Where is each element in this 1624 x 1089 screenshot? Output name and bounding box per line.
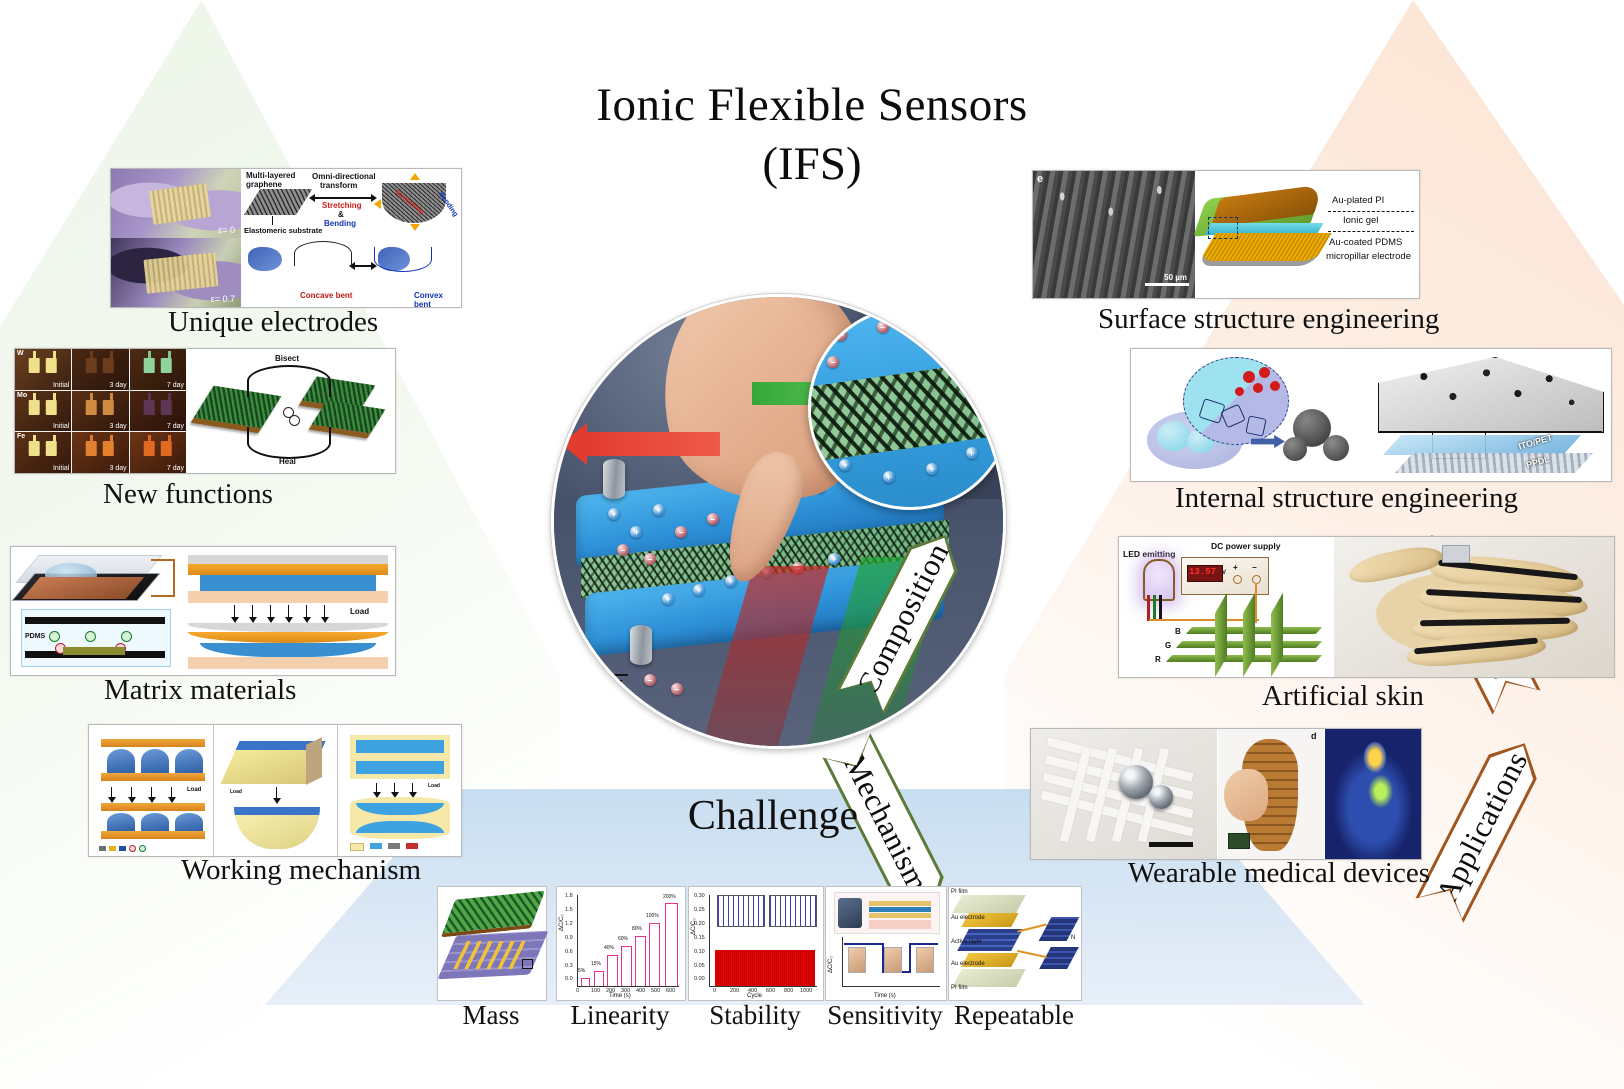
day-label: 3 day <box>110 465 127 472</box>
peak-label: 100% <box>646 913 659 919</box>
peak-bar <box>665 903 678 986</box>
label-pi-film-top: PI film <box>951 889 968 895</box>
heal-arrow-icon <box>247 427 331 459</box>
center-circle-illustration: + + + – – – – – + – + + + + + – + – – <box>551 294 1006 749</box>
callout-line <box>1017 923 1046 932</box>
metal-label-w: W <box>17 350 24 357</box>
dark-particle-icon <box>1283 437 1307 461</box>
graphene-sheet-flat <box>244 189 312 215</box>
sensor-strip-vertical <box>1215 593 1227 678</box>
electrode-top-icon <box>603 459 625 499</box>
caption-new-functions: New functions <box>103 478 273 511</box>
hand-photo-inset <box>848 947 866 973</box>
load-arrow-icon <box>276 787 277 799</box>
load-arrow-icon <box>131 787 132 798</box>
trace-recovery <box>910 943 938 945</box>
y-tick: 0.20 <box>694 921 705 927</box>
caption-internal-structure: Internal structure engineering <box>1175 482 1518 515</box>
cell-w-initial: W Initial <box>15 349 71 390</box>
peak-label: 5% <box>578 968 585 974</box>
day-label: 7 day <box>167 382 184 389</box>
load-arrow-icon <box>394 783 395 793</box>
sensor-schematic-inset <box>834 892 940 934</box>
pad-icon <box>29 441 40 456</box>
electrode-schematic: Multi-layered graphene Elastomeric subst… <box>242 169 461 307</box>
cation-icon <box>121 631 132 642</box>
arrow-up-icon <box>410 173 420 180</box>
label-load-small: Load <box>428 783 440 789</box>
x-tick: 400 <box>636 988 645 994</box>
electrode-grid <box>453 941 533 969</box>
label-load: Load <box>187 787 201 793</box>
orange-electrode-top <box>188 564 388 575</box>
peak-bar <box>635 936 646 986</box>
pad-icon <box>46 441 57 456</box>
cell-fe-7day: 7 day <box>130 432 186 473</box>
peak-bar <box>607 955 618 986</box>
pad-icon <box>144 358 155 373</box>
peak-bar <box>649 923 660 986</box>
y-tick: 0.00 <box>694 976 705 982</box>
day-label: 7 day <box>167 423 184 430</box>
panel-working-mechanism: Load Load <box>88 724 462 857</box>
transform-double-arrow <box>314 197 372 199</box>
y-tick: 1.5 <box>565 907 573 913</box>
day-label: Initial <box>53 382 69 389</box>
chart-panel-sensitivity: ΔC/C₀ Time (s) <box>825 886 947 1001</box>
x-axis-title: Time (s) <box>874 993 896 999</box>
day-label: 3 day <box>110 423 127 430</box>
cell-fe-initial: Fe Initial <box>15 432 71 473</box>
label-load: Load <box>350 607 369 616</box>
pad-icon <box>144 441 155 456</box>
x-tick: 500 <box>651 988 660 994</box>
microdome-icon <box>107 749 135 773</box>
load-arrow-icon <box>412 783 413 793</box>
y-tick: 0.3 <box>565 963 573 969</box>
x-tick: 300 <box>621 988 630 994</box>
x-tick: 200 <box>730 988 739 994</box>
inset-cycles-end <box>769 895 817 927</box>
label-ampersand: & <box>338 210 344 219</box>
label-mass: Mass <box>437 1000 545 1031</box>
label-au-electrode-top: Au electrode <box>951 915 985 921</box>
bisect-arrow-icon <box>247 365 331 397</box>
y-tick: 0.9 <box>565 935 573 941</box>
channel-label-b: B <box>1175 627 1181 636</box>
peak-label: 15% <box>591 961 601 967</box>
label-concave-bent: Concave bent <box>300 291 352 300</box>
pad-icon <box>103 358 114 373</box>
pad-icon <box>144 400 155 415</box>
label-micropillar-electrode: micropillar electrode <box>1326 251 1411 262</box>
panel-artificial-skin: LED emitting DC power supply 13.57 V + −… <box>1118 536 1615 678</box>
copper-layer <box>22 577 144 599</box>
connector-module <box>1442 545 1470 563</box>
electrode-bottom-icon <box>630 625 652 665</box>
cell-w-7day: 7 day <box>130 349 186 390</box>
load-arrow-icon <box>151 787 152 798</box>
scalebar-line <box>1145 283 1189 286</box>
label-au-plated-pi: Au-plated PI <box>1332 195 1384 206</box>
orange-electrode-bottom <box>188 632 388 643</box>
active-layer-bar <box>63 647 125 655</box>
negative-charge-icon: – <box>617 544 629 556</box>
surface-layer-schematic: Au-plated PI Ionic gel Au-coated PDMS mi… <box>1196 171 1419 298</box>
chart-panel-mass <box>437 886 547 1001</box>
load-arrow-icon <box>171 787 172 798</box>
zoom-box-marker <box>1208 217 1238 239</box>
ionic-layer-mechanism: Load <box>182 547 395 675</box>
challenge-heading: Challenge <box>613 792 933 840</box>
microdome-compressed-icon <box>175 813 203 831</box>
red-atom-icon <box>1243 371 1255 383</box>
molecular-schematic <box>1131 349 1367 481</box>
electronics-module <box>1228 833 1250 849</box>
x-axis <box>577 986 679 987</box>
caption-surface-structure: Surface structure engineering <box>1098 303 1439 336</box>
y-axis <box>709 895 710 987</box>
dc-display-unit: V <box>1222 570 1226 576</box>
negative-charge-icon: – <box>707 513 719 525</box>
panel-marker-d: d <box>1311 731 1317 741</box>
substrate-top <box>188 591 388 603</box>
zoom-box-marker <box>522 959 533 969</box>
ppdl-layer <box>1395 453 1593 473</box>
label-elastomeric-substrate: Elastomeric substrate <box>244 226 322 235</box>
graphene-strip <box>149 183 211 225</box>
led-circuit-schematic: LED emitting DC power supply 13.57 V + −… <box>1119 537 1333 677</box>
red-atom-icon <box>1259 367 1270 378</box>
x-tick: 800 <box>784 988 793 994</box>
caption-artificial-skin: Artificial skin <box>1262 680 1424 713</box>
callout-line <box>1017 950 1047 958</box>
magnified-molecule-circle <box>1183 357 1289 445</box>
x-tick: 600 <box>666 988 675 994</box>
metal-corrosion-grid: W Initial 3 day 7 day <box>15 349 186 473</box>
top-electrode-bar <box>25 617 165 624</box>
label-n: N <box>1071 935 1075 941</box>
block-side-face <box>306 737 322 785</box>
substrate-bottom <box>188 657 388 669</box>
layer-bar <box>869 907 931 912</box>
panel-surface-structure: e 50 µm Au-plated PI Ionic gel Au-coated… <box>1032 170 1420 299</box>
caption-unique-electrodes: Unique electrodes <box>168 306 378 339</box>
day-label: Initial <box>53 423 69 430</box>
x-axis <box>842 986 940 987</box>
scalebar-label: 50 µm <box>1164 273 1187 282</box>
pad-icon <box>161 400 172 415</box>
negative-charge-icon: – <box>827 356 839 368</box>
legend-swatch-anion <box>139 845 146 852</box>
finger-photo-concave <box>248 247 282 271</box>
label-dc-power-supply: DC power supply <box>1211 541 1280 551</box>
label-graphene: graphene <box>246 180 282 189</box>
positive-charge-icon: + <box>653 504 665 516</box>
legend-row <box>99 845 205 851</box>
x-tick: 0 <box>576 988 579 994</box>
channel-label-r: R <box>1155 655 1161 664</box>
ionic-gel-top <box>200 575 376 591</box>
ribbon-applications[interactable]: Applications <box>1415 731 1548 923</box>
magnified-inset: – – – – – + + + + + <box>808 306 1006 510</box>
positive-charge-icon: + <box>608 508 620 520</box>
callout-base-line <box>1378 431 1602 433</box>
pad-icon <box>103 400 114 415</box>
sem-micropillar-image: e 50 µm <box>1033 171 1195 298</box>
pad-icon <box>29 358 40 373</box>
divider-line <box>1328 231 1414 232</box>
load-arrow-icon <box>270 605 271 618</box>
day-label: 7 day <box>167 465 184 472</box>
porous-surface-image <box>1378 357 1604 433</box>
y-tick: 0.6 <box>565 949 573 955</box>
red-atom-icon <box>1253 383 1263 393</box>
load-arrow-icon <box>306 605 307 618</box>
scalebar-line <box>1149 842 1193 847</box>
panel-new-functions: W Initial 3 day 7 day <box>14 348 396 474</box>
x-tick: 100 <box>591 988 600 994</box>
positive-charge-icon: + <box>839 459 851 471</box>
label-led-emitting: LED emitting <box>1123 549 1175 559</box>
cell-mo-initial: Mo Initial <box>15 391 71 432</box>
ring-structure-icon <box>1245 415 1266 436</box>
robotic-hand-photo <box>1334 537 1614 677</box>
x-tick: 0 <box>713 988 716 994</box>
led-lead-r <box>1147 595 1150 621</box>
panel-internal-structure: ITO/PET PPDL <box>1130 348 1612 482</box>
bottom-electrode-pressed <box>101 831 205 839</box>
panel-wearable-medical: d <box>1030 728 1422 860</box>
graphene-strip-stretched <box>143 252 218 293</box>
chart-panel-linearity: ΔC/C₀ Time (s) 1.8 1.5 1.2 0.9 0.6 0.3 0… <box>556 886 686 1001</box>
x-tick: 400 <box>748 988 757 994</box>
label-ionic-gel: Ionic gel <box>1343 215 1378 226</box>
hand-photo-inset <box>916 947 934 973</box>
inset-cycles-start <box>717 895 765 927</box>
hand-on-insole <box>1224 769 1268 821</box>
metal-label-fe: Fe <box>17 433 25 440</box>
sub-blob-icon <box>1157 421 1191 451</box>
pi-film-top <box>952 895 1026 913</box>
y-axis-title: ΔC/C₀ <box>828 956 834 973</box>
legend-swatch-scs <box>119 846 126 851</box>
steel-bead <box>1149 785 1173 809</box>
y-tick: 0.15 <box>694 935 705 941</box>
label-au-electrode-bottom: Au electrode <box>951 961 985 967</box>
label-sensitivity: Sensitivity <box>825 1000 945 1031</box>
pad-icon <box>46 358 57 373</box>
trace-rise <box>909 943 911 973</box>
positive-charge-icon: + <box>966 447 978 459</box>
label-bisect: Bisect <box>275 354 299 363</box>
cover-layer <box>188 555 388 564</box>
caption-wearable-medical: Wearable medical devices <box>1128 857 1430 890</box>
pad-icon <box>86 441 97 456</box>
cover-layer-pressed <box>188 623 388 632</box>
divider-line <box>1328 211 1414 212</box>
bend-double-arrow <box>354 265 372 267</box>
sensor-strip-vertical <box>1243 593 1255 678</box>
label-stretching: Stretching <box>322 201 362 210</box>
mech-subpanel-block: Load <box>213 725 337 856</box>
x-tick: 1000 <box>800 988 812 994</box>
ion-channel-bent <box>356 821 444 833</box>
positive-charge-icon: + <box>981 408 993 420</box>
page-title: Ionic Flexible Sensors <box>0 78 1624 133</box>
peak-label: 200% <box>663 894 676 900</box>
positive-charge-icon: + <box>662 593 674 605</box>
layer-bar <box>869 901 931 906</box>
metal-label-mo: Mo <box>17 392 27 399</box>
pad-icon <box>46 400 57 415</box>
terminal-plus-label: + <box>1233 563 1238 572</box>
self-healing-schematic: Bisect Heal <box>187 349 395 473</box>
panel-matrix-materials: PDMS Load <box>10 546 396 676</box>
dark-particle-icon <box>1323 435 1349 461</box>
legend-swatch-cation <box>129 845 136 852</box>
steel-bead <box>1119 765 1153 799</box>
red-direction-arrow <box>585 432 720 457</box>
ribbon-applications-label: Applications <box>1429 746 1536 909</box>
legend-swatch-channel <box>370 843 382 849</box>
microdome-compressed-icon <box>107 813 135 831</box>
terminal-minus-label: − <box>1252 563 1257 572</box>
load-arrow-icon <box>288 605 289 618</box>
red-atom-icon <box>1235 387 1244 396</box>
peak-label: 60% <box>618 936 628 942</box>
label-bending: Bending <box>324 219 356 228</box>
negative-charge-icon: – <box>922 325 934 337</box>
load-arrow-icon <box>324 605 325 618</box>
positive-charge-icon: + <box>883 471 895 483</box>
arrow-down-icon <box>410 224 420 231</box>
device-exploded-view: PDMS <box>11 547 181 675</box>
negative-charge-icon: – <box>877 321 889 333</box>
bottom-electrode <box>101 773 205 781</box>
arrow-left-icon <box>374 199 381 209</box>
led-lead-b <box>1159 595 1162 621</box>
label-au-coated-pdms: Au-coated PDMS <box>1329 237 1402 248</box>
label-omni-directional: Omni-directional <box>312 172 376 181</box>
y-tick: 1.2 <box>565 921 573 927</box>
label-transform: transform <box>320 181 357 190</box>
positive-charge-icon: + <box>926 463 938 475</box>
panel-unique-electrodes: ε= 0 ε= 0.7 Multi-layered graphene Elast… <box>110 168 462 308</box>
label-pi-film-bottom: PI film <box>951 985 968 991</box>
hand-photo-inset <box>884 947 902 973</box>
skin-layer <box>869 920 931 929</box>
y-tick: 0.25 <box>694 907 705 913</box>
ion-channel <box>356 761 444 774</box>
negative-charge-icon: – <box>644 553 656 565</box>
caption-working-mechanism: Working mechanism <box>181 854 421 887</box>
peak-bar <box>621 946 632 986</box>
layer-bar <box>869 913 931 918</box>
cation-icon <box>85 631 96 642</box>
center-illustration-wrap: + + + – – – – – + – + + + + + – + – – <box>420 292 1040 744</box>
channel-label-g: G <box>1165 641 1171 650</box>
green-mesh-layer <box>441 891 545 938</box>
label-pdms: PDMS <box>25 633 45 640</box>
composite-block-bent <box>234 807 320 849</box>
label-stability: Stability <box>688 1000 822 1031</box>
microdome-compressed-icon <box>141 813 169 831</box>
label-linearity: Linearity <box>556 1000 684 1031</box>
cell-mo-3day: 3 day <box>72 391 128 432</box>
connector-bracket-top <box>151 559 175 597</box>
concave-bent-sketch <box>294 241 352 266</box>
peak-bar <box>581 978 590 986</box>
load-arrow-icon <box>376 783 377 793</box>
y-tick: 1.8 <box>565 893 573 899</box>
negative-charge-icon: – <box>835 329 847 341</box>
dc-display-value: 13.57 <box>1189 567 1216 577</box>
day-label: 3 day <box>110 382 127 389</box>
x-tick: 600 <box>766 988 775 994</box>
caption-matrix-materials: Matrix materials <box>104 674 296 707</box>
x-tick: 200 <box>606 988 615 994</box>
wire-negative <box>1255 583 1257 623</box>
microdome-icon <box>141 749 169 773</box>
insole-sensor-photo <box>1218 729 1324 859</box>
sem-marker-label: e <box>1037 173 1043 185</box>
top-electrode-pressed <box>101 803 205 811</box>
device-photo <box>838 898 862 928</box>
pad-icon <box>29 400 40 415</box>
cell-mo-7day: 7 day <box>130 391 186 432</box>
electrode-photo-strained: ε= 0.7 <box>111 238 241 307</box>
peak-label: 80% <box>632 926 642 932</box>
legend-swatch-charge <box>406 843 418 849</box>
cation-icon <box>49 631 60 642</box>
legend-swatch-agnws <box>109 846 116 851</box>
top-electrode <box>101 739 205 747</box>
y-tick: 0.05 <box>694 963 705 969</box>
y-tick: 0.30 <box>694 893 705 899</box>
y-tick: 0.0 <box>565 976 573 982</box>
label-repeatable: Repeatable <box>948 1000 1080 1031</box>
pressure-map-image: d <box>1325 729 1421 859</box>
pad-icon <box>86 400 97 415</box>
load-arrow-icon <box>234 605 235 618</box>
microdome-icon <box>175 749 203 773</box>
pad-icon <box>86 358 97 373</box>
pad-icon <box>161 358 172 373</box>
led-lead-g <box>1153 595 1156 621</box>
nanostructure-detail <box>1039 947 1079 969</box>
convex-bent-sketch <box>374 247 432 272</box>
electrode-photo-unstrained: ε= 0 <box>111 169 241 238</box>
mech-subpanel-dome: Load <box>89 725 212 856</box>
stability-cycling-trace <box>715 950 815 986</box>
strain-label-a: ε= 0 <box>218 225 235 235</box>
terminal-positive-icon <box>1233 575 1242 584</box>
peak-bar <box>594 971 604 986</box>
legend-swatch-cb <box>99 846 106 851</box>
strain-label-b: ε= 0.7 <box>211 294 235 304</box>
figure-root: Ionic Flexible Sensors (IFS) ε= 0 ε= 0.7… <box>0 0 1624 1089</box>
ionic-gel-bottom <box>200 643 376 657</box>
glove-thumb <box>1346 541 1445 586</box>
y-tick: 0.10 <box>694 949 705 955</box>
legend-row-channel <box>350 843 456 851</box>
substrate-pointer <box>272 216 273 225</box>
y-axis <box>842 937 843 987</box>
negative-charge-icon: – <box>962 337 974 349</box>
label-multilayered: Multi-layered <box>246 171 295 180</box>
cell-w-3day: 3 day <box>72 349 128 390</box>
